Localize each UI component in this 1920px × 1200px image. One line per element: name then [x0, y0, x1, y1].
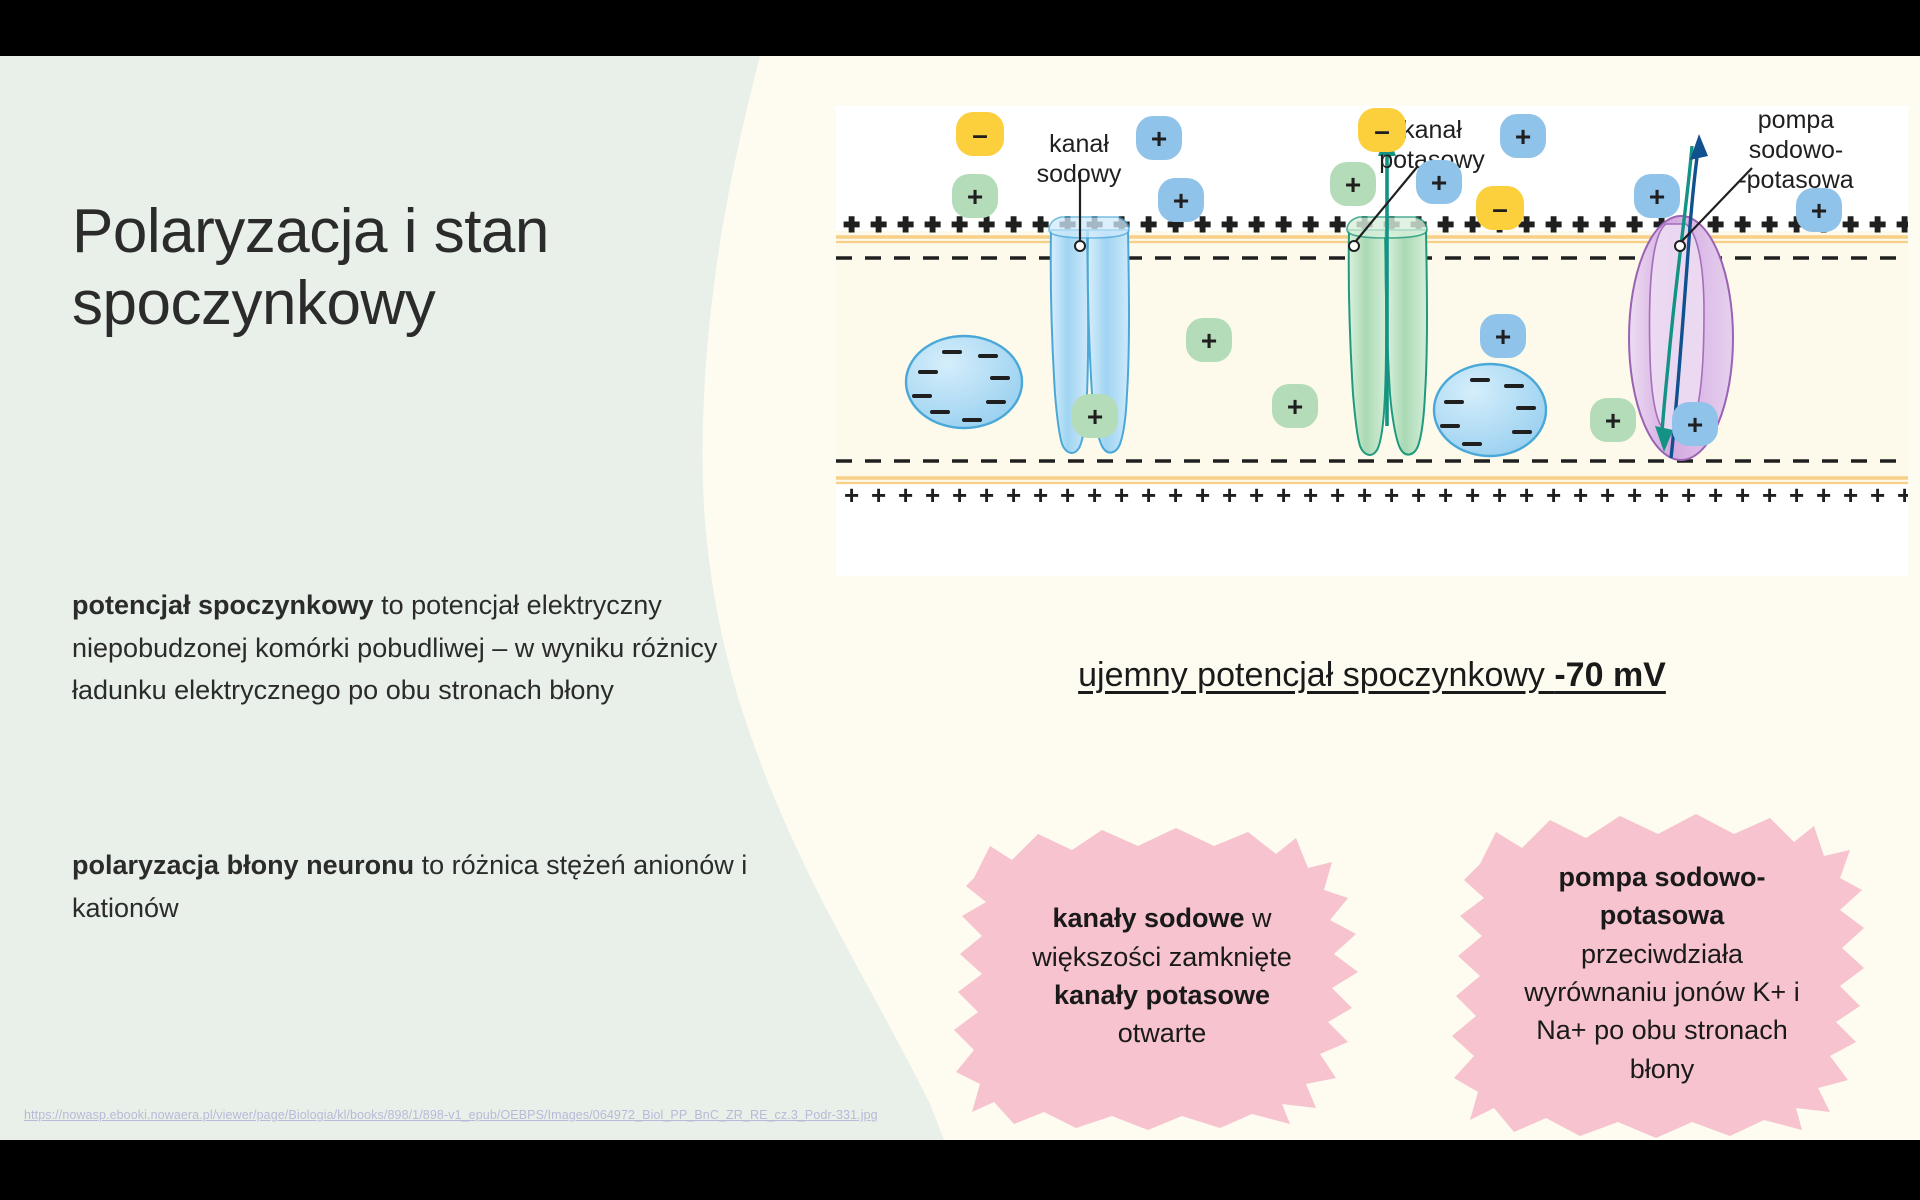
membrane-charge-plus: + — [1546, 209, 1561, 239]
source-url-link[interactable]: https://nowasp.ebooki.nowaera.pl/viewer/… — [24, 1108, 878, 1122]
callout-right-line5: Na+ po obu stronach — [1536, 1015, 1787, 1045]
paragraph1-bold-lead: potencjał spoczynkowy — [72, 590, 374, 620]
ion-sodium: + — [1796, 188, 1842, 232]
callout-right-line1-bold: pompa sodowo- — [1559, 862, 1766, 892]
ion-potassium: + — [1590, 398, 1636, 442]
membrane-charge-plus: + — [1627, 480, 1642, 510]
membrane-charge-plus: + — [1492, 480, 1507, 510]
ion-sodium: + — [1500, 114, 1546, 158]
membrane-charge-plus: + — [1060, 480, 1075, 510]
membrane-charge-plus: + — [1708, 209, 1723, 239]
membrane-charge-plus: + — [871, 480, 886, 510]
ion-sodium: + — [1672, 402, 1718, 446]
svg-text:+: + — [1345, 169, 1361, 200]
svg-text:+: + — [1495, 321, 1511, 352]
ion-anion-yellow: – — [1476, 186, 1524, 230]
membrane-charge-plus: + — [1438, 480, 1453, 510]
membrane-charge-plus: + — [1573, 480, 1588, 510]
membrane-charge-plus: + — [1357, 480, 1372, 510]
membrane-charge-plus: + — [1276, 480, 1291, 510]
membrane-diagram: ++++++++++++++++++++++++++++++++++++++++… — [836, 106, 1908, 576]
callout-left-line4: otwarte — [1118, 1018, 1207, 1048]
membrane-charge-plus: + — [1195, 480, 1210, 510]
membrane-charge-plus: + — [1330, 209, 1345, 239]
membrane-charge-plus: + — [1222, 209, 1237, 239]
membrane-charge-plus: + — [844, 209, 859, 239]
membrane-charge-plus: + — [1654, 480, 1669, 510]
ion-sodium: + — [1158, 178, 1204, 222]
membrane-charge-plus: + — [1168, 480, 1183, 510]
membrane-charge-plus: + — [1141, 209, 1156, 239]
svg-text:+: + — [1515, 121, 1531, 152]
ion-potassium: + — [952, 174, 998, 218]
membrane-charge-plus: + — [1735, 209, 1750, 239]
membrane-charge-plus: + — [871, 209, 886, 239]
membrane-charge-plus: + — [898, 209, 913, 239]
callout-right-line2-bold: potasowa — [1600, 900, 1725, 930]
membrane-charge-plus: + — [1600, 209, 1615, 239]
membrane-charge-plus: + — [1735, 480, 1750, 510]
membrane-charge-plus: + — [952, 480, 967, 510]
membrane-charge-plus: + — [1789, 480, 1804, 510]
figure-caption-text: ujemny potencjał spoczynkowy — [1078, 656, 1554, 694]
callout-left-line1-plain: w — [1245, 903, 1272, 933]
label-pump-line1: pompa — [1758, 106, 1835, 134]
label-potassium-channel-line1: kanał — [1402, 116, 1462, 144]
ion-potassium: + — [1186, 318, 1232, 362]
ion-potassium: + — [1330, 162, 1376, 206]
callout-right-line6: błony — [1630, 1054, 1695, 1084]
membrane-charge-plus: + — [1330, 480, 1345, 510]
svg-text:+: + — [967, 181, 983, 212]
membrane-charge-plus: + — [979, 480, 994, 510]
membrane-charge-plus: + — [1087, 480, 1102, 510]
ion-potassium: + — [1272, 384, 1318, 428]
membrane-charge-plus: + — [1006, 209, 1021, 239]
svg-text:+: + — [1151, 123, 1167, 154]
svg-text:+: + — [1431, 167, 1447, 198]
figure-caption-value: -70 mV — [1554, 656, 1666, 694]
svg-text:+: + — [1173, 185, 1189, 216]
membrane-charge-plus: + — [844, 480, 859, 510]
membrane-charge-plus: + — [1762, 209, 1777, 239]
membrane-charge-plus: + — [1222, 480, 1237, 510]
membrane-charge-plus: + — [1600, 480, 1615, 510]
ion-sodium: + — [1136, 116, 1182, 160]
callout-right-line3: przeciwdziała — [1581, 939, 1743, 969]
membrane-charge-plus: + — [1843, 209, 1858, 239]
membrane-charge-plus: + — [1249, 209, 1264, 239]
membrane-charge-plus: + — [1897, 209, 1908, 239]
callout-sodium-potassium-channels: kanały sodowe w większości zamknięte kan… — [952, 816, 1372, 1136]
membrane-charge-plus: + — [1141, 480, 1156, 510]
label-pump-line2: sodowo- — [1749, 136, 1844, 164]
membrane-charge-plus: + — [1708, 480, 1723, 510]
membrane-charge-plus: + — [1384, 480, 1399, 510]
label-sodium-channel-line2: sodowy — [1037, 160, 1122, 188]
ion-sodium: + — [1480, 314, 1526, 358]
membrane-charge-plus: + — [1411, 480, 1426, 510]
svg-text:+: + — [1605, 405, 1621, 436]
svg-text:+: + — [1087, 401, 1103, 432]
screenshot-stage: Polaryzacja i stan spoczynkowy potencjał… — [0, 0, 1920, 1200]
paragraph-resting-potential: potencjał spoczynkowy to potencjał elekt… — [72, 584, 762, 712]
membrane-charge-plus: + — [1546, 480, 1561, 510]
figure-caption: ujemny potencjał spoczynkowy -70 mV — [836, 656, 1908, 695]
svg-text:–: – — [972, 119, 988, 150]
svg-text:+: + — [1649, 181, 1665, 212]
membrane-charge-plus: + — [1006, 480, 1021, 510]
membrane-charge-plus: + — [1114, 480, 1129, 510]
membrane-charge-plus: + — [1303, 209, 1318, 239]
membrane-charge-plus: + — [925, 209, 940, 239]
callout-left-line2: większości zamknięte — [1032, 942, 1292, 972]
ion-potassium: + — [1072, 394, 1118, 438]
callout-sodium-potassium-pump: pompa sodowo- potasowa przeciwdziała wyr… — [1452, 798, 1872, 1140]
label-sodium-channel-line1: kanał — [1049, 130, 1109, 158]
membrane-charge-plus: + — [1870, 209, 1885, 239]
callout-left-text: kanały sodowe w większości zamknięte kan… — [952, 816, 1372, 1136]
membrane-charge-plus: + — [1681, 480, 1696, 510]
membrane-charge-plus: + — [1276, 209, 1291, 239]
membrane-charge-plus: + — [1519, 480, 1534, 510]
svg-text:–: – — [1492, 193, 1508, 224]
callout-right-line4: wyrównaniu jonów K+ i — [1524, 977, 1799, 1007]
ion-sodium: + — [1416, 160, 1462, 204]
membrane-charge-plus: + — [898, 480, 913, 510]
membrane-charge-plus: + — [1438, 209, 1453, 239]
ion-anion-yellow: – — [956, 112, 1004, 156]
protein-anion — [1434, 364, 1546, 456]
membrane-charge-plus: + — [1465, 480, 1480, 510]
membrane-charge-plus: + — [1303, 480, 1318, 510]
membrane-charge-plus: + — [1870, 480, 1885, 510]
label-pump-line3: -potasowa — [1738, 166, 1853, 194]
page-title: Polaryzacja i stan spoczynkowy — [72, 196, 772, 340]
callout-left-line1-bold: kanały sodowe — [1052, 903, 1244, 933]
membrane-charge-plus: + — [1033, 209, 1048, 239]
ion-anion-yellow: – — [1358, 108, 1406, 152]
membrane-charge-plus: + — [1897, 480, 1908, 510]
paragraph-membrane-polarization: polaryzacja błony neuronu to różnica stę… — [72, 844, 762, 929]
membrane-charge-plus: + — [1843, 480, 1858, 510]
membrane-charge-plus: + — [1816, 480, 1831, 510]
svg-text:+: + — [1201, 325, 1217, 356]
membrane-charge-plus: + — [925, 480, 940, 510]
paragraph2-bold-lead: polaryzacja błony neuronu — [72, 850, 414, 880]
membrane-charge-plus: + — [1033, 480, 1048, 510]
membrane-diagram-svg: ++++++++++++++++++++++++++++++++++++++++… — [836, 106, 1908, 576]
membrane-charge-plus: + — [1249, 480, 1264, 510]
ion-sodium: + — [1634, 174, 1680, 218]
protein-anion — [906, 336, 1022, 428]
svg-text:+: + — [1687, 409, 1703, 440]
callout-right-text: pompa sodowo- potasowa przeciwdziała wyr… — [1452, 798, 1872, 1140]
membrane-charge-plus: + — [1762, 480, 1777, 510]
svg-text:+: + — [1287, 391, 1303, 422]
callout-left-line3-bold: kanały potasowe — [1054, 980, 1270, 1010]
membrane-charge-plus: + — [1573, 209, 1588, 239]
svg-text:+: + — [1811, 195, 1827, 226]
slide-canvas: Polaryzacja i stan spoczynkowy potencjał… — [0, 56, 1920, 1140]
svg-text:–: – — [1374, 115, 1390, 146]
